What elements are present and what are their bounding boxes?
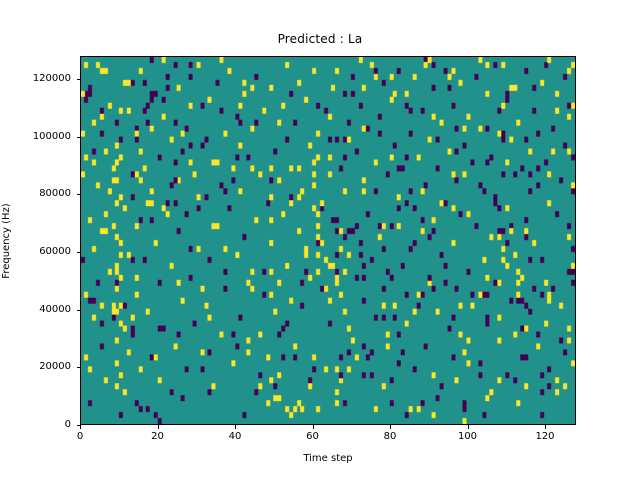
y-tick-mark (77, 194, 81, 195)
x-tick-mark (545, 425, 546, 429)
y-tick-mark (77, 310, 81, 311)
x-tick-mark (158, 425, 159, 429)
y-tick-mark (77, 367, 81, 368)
x-tick-label: 0 (50, 431, 110, 443)
x-tick-mark (468, 425, 469, 429)
y-tick-mark (77, 79, 81, 80)
x-tick-mark (313, 425, 314, 429)
y-tick-mark (77, 137, 81, 138)
matplotlib-figure: Predicted : La 020406080100120 020000400… (0, 0, 640, 480)
x-tick-mark (235, 425, 236, 429)
y-tick-mark (77, 425, 81, 426)
y-axis-label-wrapper: Frequency (Hz) (0, 56, 14, 425)
x-tick-label: 80 (360, 431, 420, 443)
y-axis-label: Frequency (Hz) (1, 203, 13, 278)
x-tick-mark (80, 425, 81, 429)
x-tick-label: 100 (438, 431, 498, 443)
y-tick-mark (77, 252, 81, 253)
x-tick-label: 20 (128, 431, 188, 443)
heatmap-axes (80, 56, 576, 425)
x-tick-label: 120 (515, 431, 575, 443)
chart-title: Predicted : La (0, 31, 640, 47)
x-axis-label: Time step (80, 453, 576, 465)
x-tick-label: 40 (205, 431, 265, 443)
x-tick-mark (390, 425, 391, 429)
spectrogram-heatmap (81, 57, 575, 424)
x-tick-label: 60 (283, 431, 343, 443)
